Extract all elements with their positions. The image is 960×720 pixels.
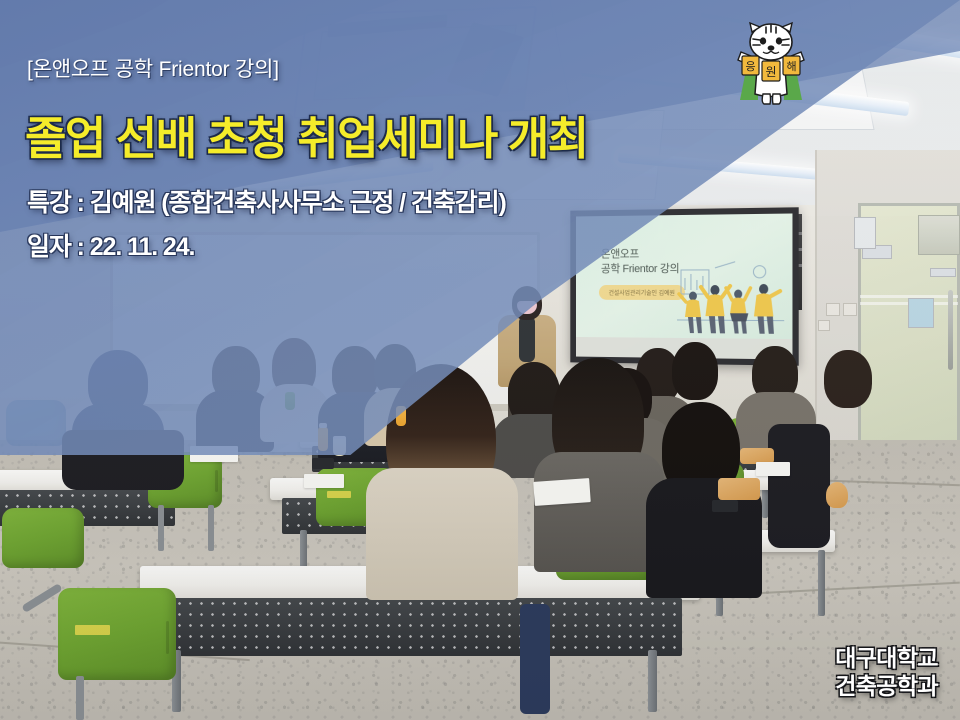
screen-title-line1: 온앤오프 — [601, 247, 679, 262]
event-poster: 온앤오프 공학 Frientor 강의 건설사업관리기술인 김예원 — [0, 0, 960, 720]
major-name: 건축공학과 — [835, 672, 938, 700]
chair-leg — [76, 676, 84, 720]
desk-modesty-panel — [152, 598, 682, 656]
mascot-sign-center: 원 — [762, 61, 780, 81]
desk-leg — [818, 550, 825, 616]
svg-text:원: 원 — [765, 65, 776, 79]
mascot-eye-left — [760, 37, 766, 44]
bag-charm — [826, 482, 848, 508]
chair-slit — [215, 470, 218, 492]
white-tiger-mascot: 응 원 해 — [728, 16, 814, 108]
mascot-sign-right: 해 — [783, 56, 800, 75]
chair[interactable] — [58, 588, 176, 680]
corridor-cabinet — [918, 215, 960, 255]
screen-title-line2: 공학 Frientor 강의 — [601, 262, 679, 277]
chair-back — [2, 508, 84, 568]
bag-strap — [520, 604, 550, 714]
presenter-inner-top — [519, 316, 535, 362]
svg-text:응: 응 — [745, 60, 755, 73]
department-credit: 대구대학교 건축공학과 — [835, 644, 938, 700]
corridor-panel — [854, 217, 876, 249]
person-head — [824, 350, 872, 408]
chair-label — [327, 491, 351, 497]
svg-text:해: 해 — [786, 59, 796, 73]
door-handle[interactable] — [948, 290, 953, 370]
smartphone[interactable] — [712, 500, 738, 512]
wall-switch[interactable] — [826, 303, 840, 316]
chair-label — [75, 625, 110, 635]
backpack — [768, 424, 830, 548]
wall-switch[interactable] — [843, 303, 857, 316]
chair[interactable] — [2, 508, 84, 568]
desk-leg — [648, 650, 657, 712]
wall-outlet[interactable] — [818, 320, 830, 331]
chair-leg — [158, 505, 164, 551]
handout — [533, 478, 591, 506]
page-title: 졸업 선배 초청 취업세미나 개최 — [25, 102, 588, 167]
chair-leg — [208, 505, 214, 551]
person-body — [366, 468, 518, 600]
mascot-sign-left: 응 — [742, 56, 759, 75]
screen-title: 온앤오프 공학 Frientor 강의 — [601, 247, 679, 277]
mascot-leg-right — [773, 94, 781, 104]
mascot-eye-right — [776, 37, 782, 44]
date-line: 일자 : 22. 11. 24. — [27, 227, 194, 263]
university-name: 대구대학교 — [835, 644, 938, 672]
screen-badge: 건설사업관리기술인 김예원 — [599, 285, 685, 300]
eyebrow-text: [온앤오프 공학 Frientor 강의] — [27, 53, 279, 83]
person-head — [672, 342, 718, 400]
smartphone[interactable] — [312, 458, 334, 469]
chair-slit — [166, 621, 169, 654]
mascot-leg-left — [762, 94, 770, 104]
handout — [304, 474, 344, 488]
person-body-hoodie — [534, 452, 664, 572]
snack-pack — [718, 478, 760, 500]
cheering-people-illustration — [675, 259, 786, 337]
mascot-nose — [768, 45, 775, 50]
corridor-sign — [930, 268, 956, 277]
speaker-line: 특강 : 김예원 (종합건축사사무소 근정 / 건축감리) — [27, 183, 506, 219]
corridor-poster — [908, 298, 934, 328]
handout — [756, 462, 790, 476]
